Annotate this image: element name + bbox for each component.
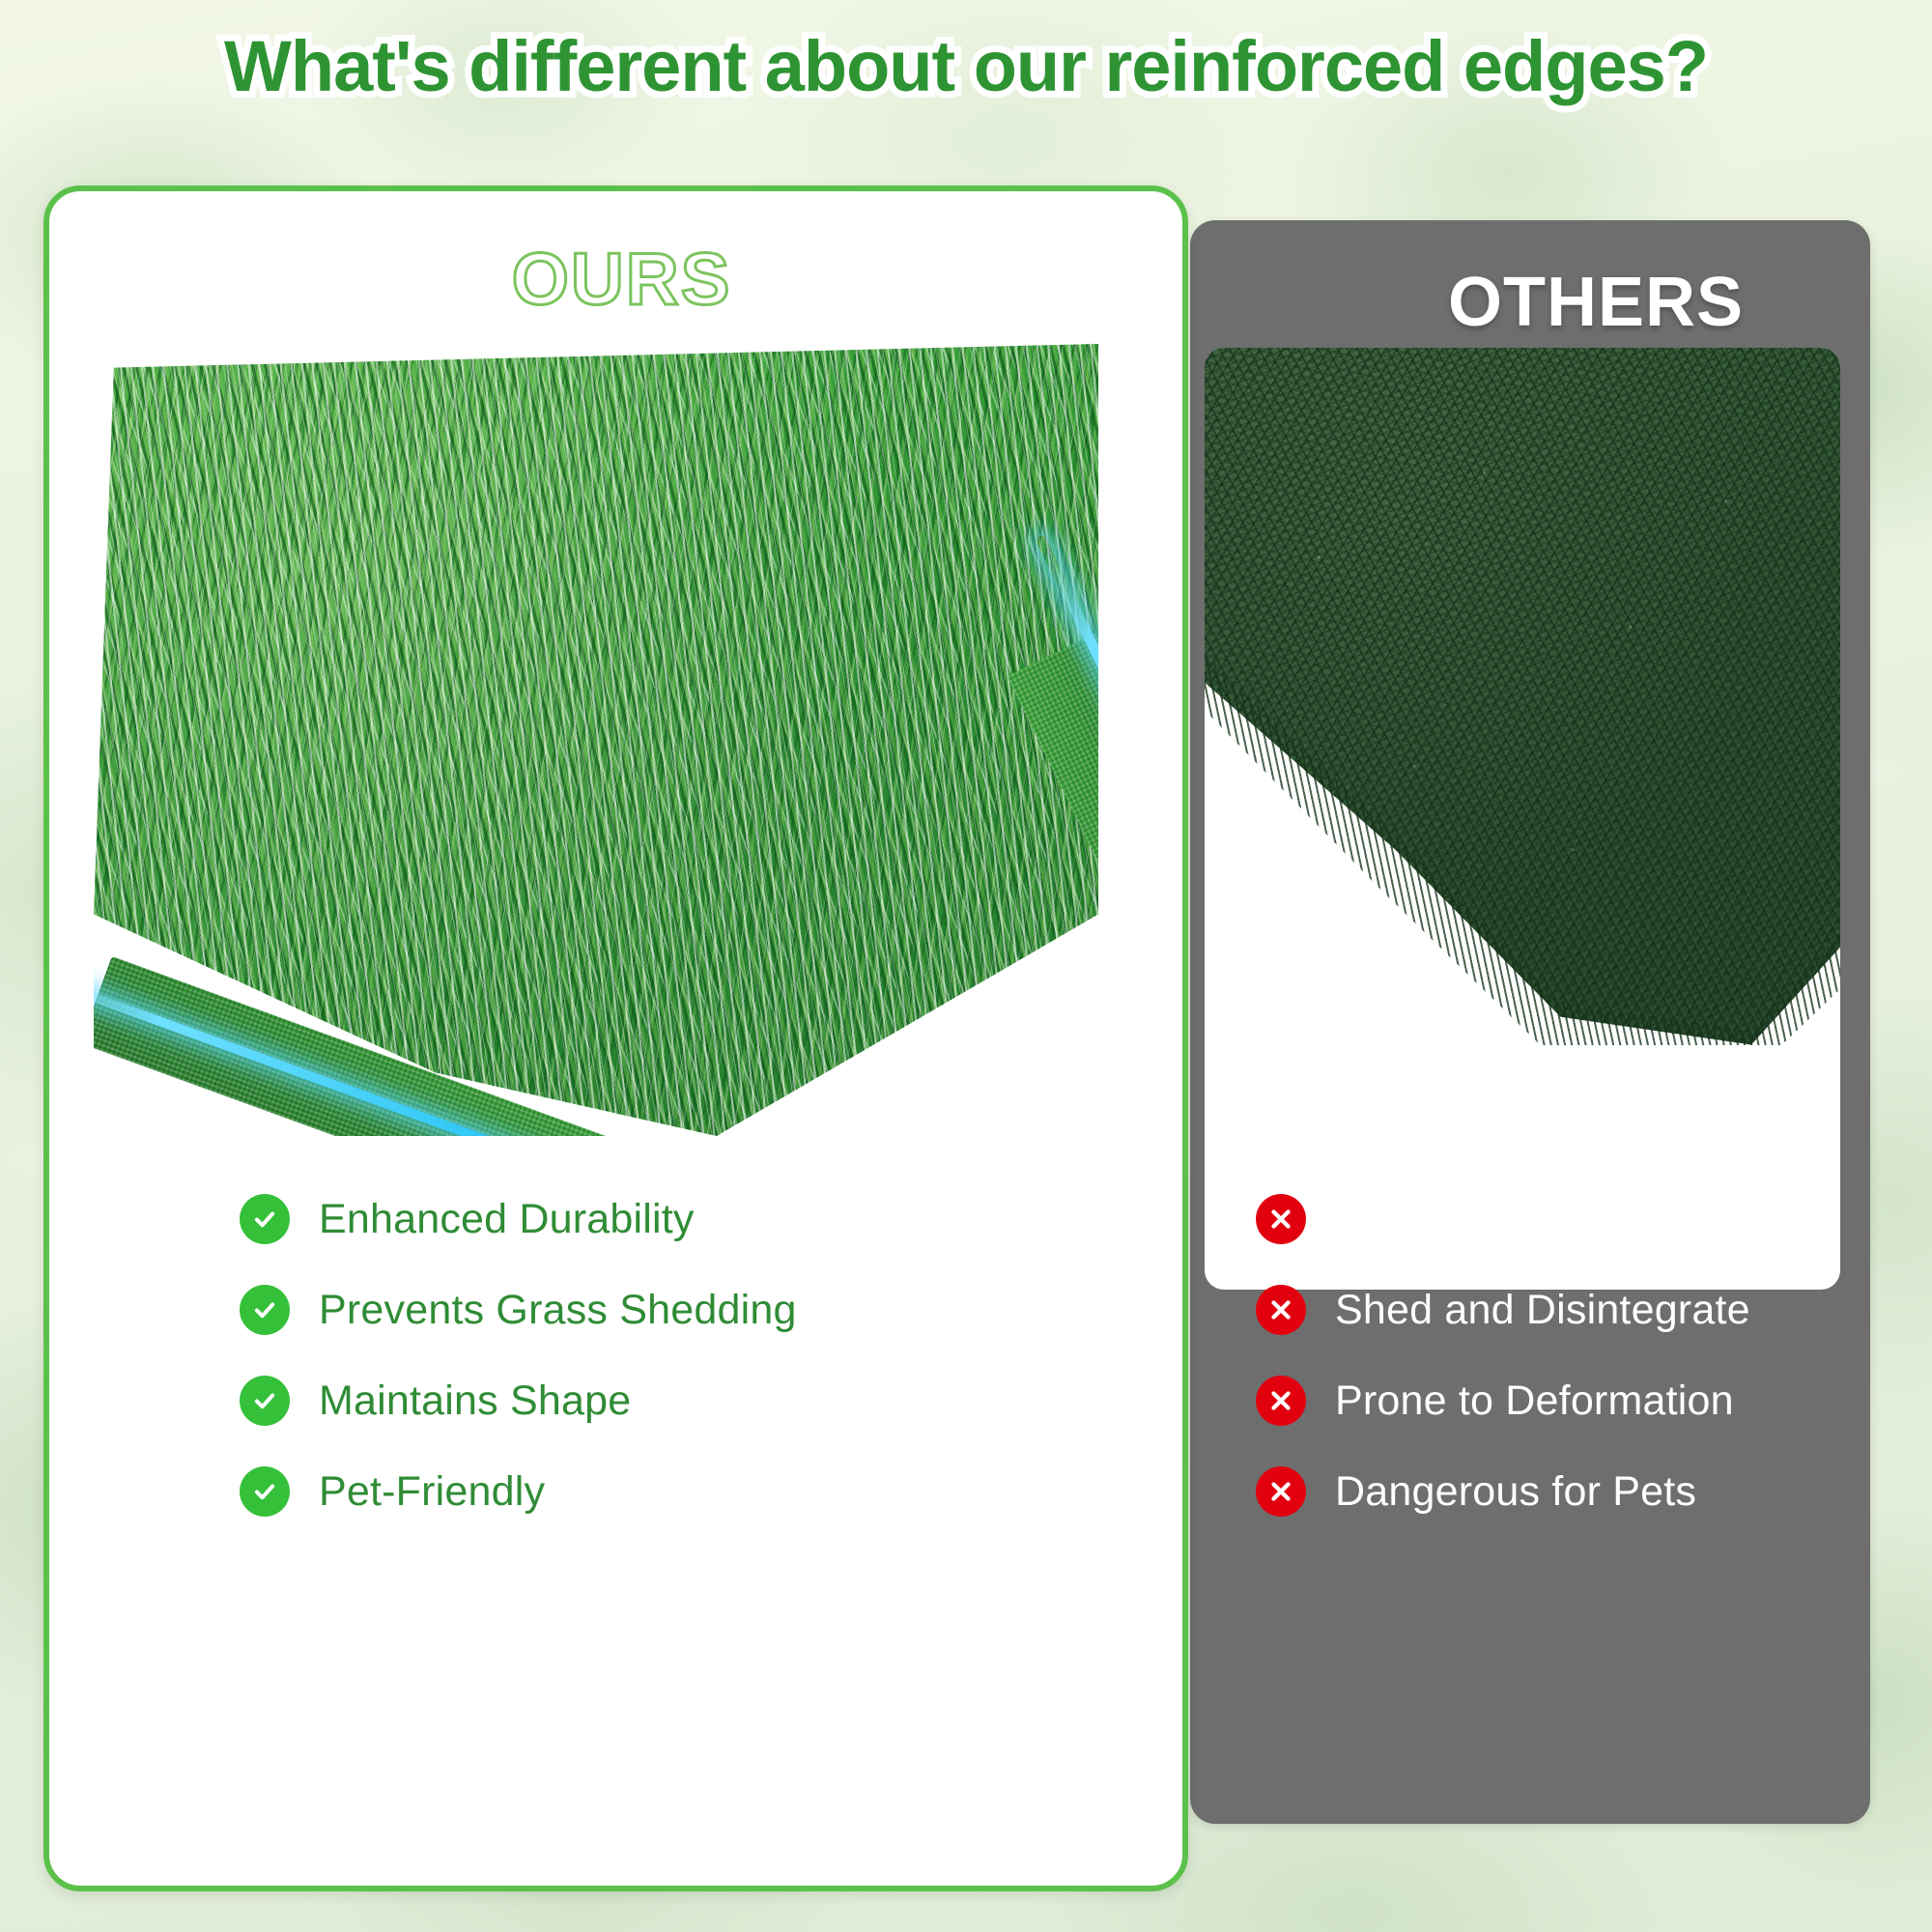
infographic-canvas: What's different about our reinforced ed… <box>0 0 1932 1932</box>
check-circle-icon <box>240 1376 290 1426</box>
list-item: Poor Durability <box>1256 1174 1750 1264</box>
x-circle-icon <box>1256 1376 1306 1426</box>
others-feature-list: Poor Durability Shed and Disintegrate Pr… <box>1256 1174 1750 1537</box>
ours-card: OURS <box>43 185 1188 1891</box>
check-circle-icon <box>240 1285 290 1335</box>
ours-photo <box>94 344 1098 1136</box>
list-item: Prevents Grass Shedding <box>240 1264 797 1355</box>
x-circle-icon <box>1256 1194 1306 1244</box>
ours-heading: OURS <box>49 238 1194 322</box>
list-item: Shed and Disintegrate <box>1256 1264 1750 1355</box>
list-item-label: Prevents Grass Shedding <box>319 1287 797 1334</box>
list-item: Maintains Shape <box>240 1355 797 1446</box>
list-item-label: Maintains Shape <box>319 1378 631 1425</box>
list-item-label: Dangerous for Pets <box>1335 1468 1696 1516</box>
list-item-label: Prone to Deformation <box>1335 1378 1734 1425</box>
list-item: Dangerous for Pets <box>1256 1446 1750 1537</box>
x-circle-icon <box>1256 1466 1306 1517</box>
x-circle-icon <box>1256 1285 1306 1335</box>
others-grass-speckle-detail <box>1205 348 1840 1045</box>
check-circle-icon <box>240 1466 290 1517</box>
others-heading: OTHERS <box>1335 263 1857 342</box>
list-item-label: Pet-Friendly <box>319 1468 545 1516</box>
page-title: What's different about our reinforced ed… <box>0 25 1932 107</box>
list-item-label: Shed and Disintegrate <box>1335 1287 1750 1334</box>
list-item-label: Enhanced Durability <box>319 1196 695 1243</box>
check-circle-icon <box>240 1194 290 1244</box>
list-item: Prone to Deformation <box>1256 1355 1750 1446</box>
list-item-label: Poor Durability <box>1335 1196 1610 1243</box>
list-item: Enhanced Durability <box>240 1174 797 1264</box>
others-photo-card <box>1205 348 1840 1290</box>
list-item: Pet-Friendly <box>240 1446 797 1537</box>
ours-feature-list: Enhanced Durability Prevents Grass Shedd… <box>240 1174 797 1537</box>
